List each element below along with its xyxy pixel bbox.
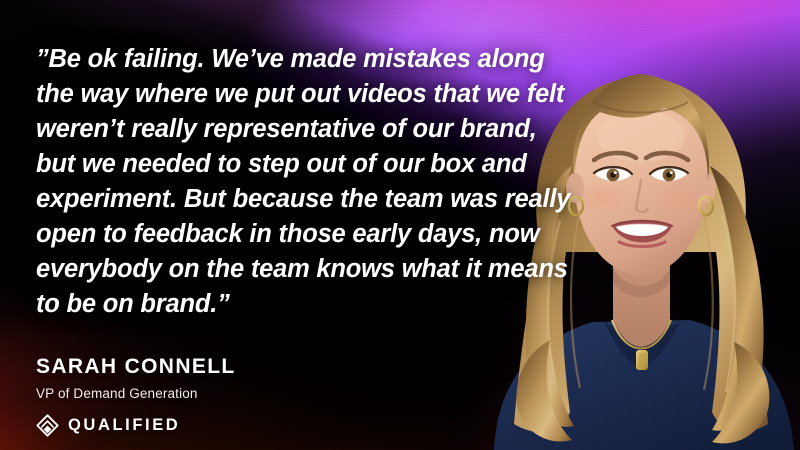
speaker-role: VP of Demand Generation	[36, 387, 236, 401]
company-name: QUALIFIED	[68, 417, 180, 434]
company-logo: QUALIFIED	[36, 414, 236, 437]
quote-text: ”Be ok failing. We’ve made mistakes alon…	[36, 42, 576, 322]
attribution-block: SARAH CONNELL VP of Demand Generation QU…	[36, 356, 236, 437]
speaker-name: SARAH CONNELL	[36, 356, 236, 377]
qualified-diamond-chevron-icon	[36, 414, 59, 437]
testimonial-card: ”Be ok failing. We’ve made mistakes alon…	[0, 0, 800, 450]
